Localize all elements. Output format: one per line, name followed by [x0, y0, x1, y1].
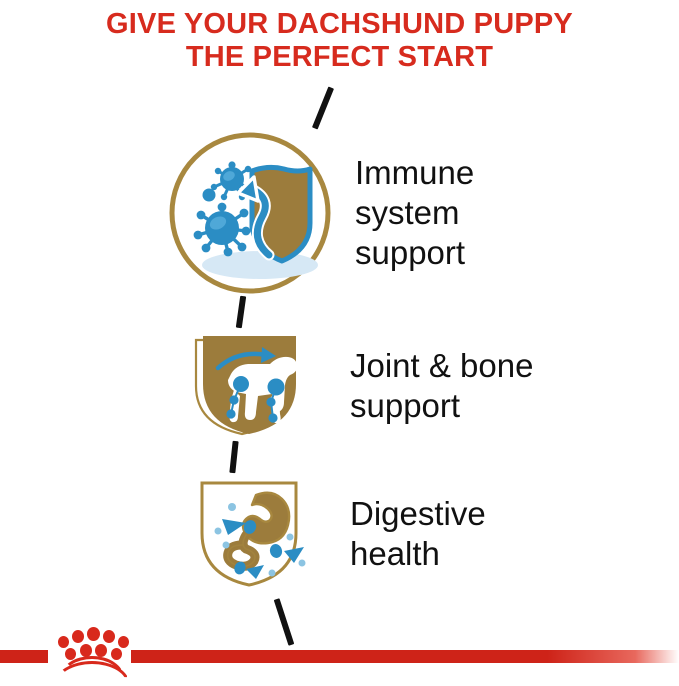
connector-dash-top	[312, 86, 334, 129]
feature-label-immune: Immune system support	[355, 153, 474, 273]
connector-dash-joint-digestive	[229, 441, 238, 473]
feature-label-immune-line-3: support	[355, 233, 474, 273]
royal-canin-crown-logo	[50, 624, 128, 668]
feature-label-joint-bone-line-1: Joint & bone	[350, 346, 533, 386]
product-feature-panel: GIVE YOUR DACHSHUND PUPPY THE PERFECT ST…	[0, 0, 679, 686]
headline-line-1: GIVE YOUR DACHSHUND PUPPY	[0, 8, 679, 41]
feature-label-digestive: Digestive health	[350, 494, 486, 574]
feature-row-joint-bone: Joint & bone support	[168, 330, 533, 442]
immune-shield-icon	[168, 131, 332, 295]
joint-bone-dog-icon	[168, 330, 332, 442]
digestive-stomach-icon	[168, 475, 332, 593]
footer-bar-right	[131, 650, 679, 663]
feature-row-digestive: Digestive health	[168, 475, 486, 593]
feature-label-immune-line-2: system	[355, 193, 474, 233]
feature-label-digestive-line-2: health	[350, 534, 486, 574]
headline-line-2: THE PERFECT START	[0, 41, 679, 74]
brand-footer	[0, 624, 679, 668]
feature-label-immune-line-1: Immune	[355, 153, 474, 193]
footer-bar-left	[0, 650, 48, 663]
feature-row-immune: Immune system support	[168, 131, 474, 295]
page-title: GIVE YOUR DACHSHUND PUPPY THE PERFECT ST…	[0, 8, 679, 74]
feature-label-joint-bone: Joint & bone support	[350, 346, 533, 426]
connector-dash-immune-joint	[236, 296, 246, 329]
feature-label-digestive-line-1: Digestive	[350, 494, 486, 534]
feature-label-joint-bone-line-2: support	[350, 386, 533, 426]
